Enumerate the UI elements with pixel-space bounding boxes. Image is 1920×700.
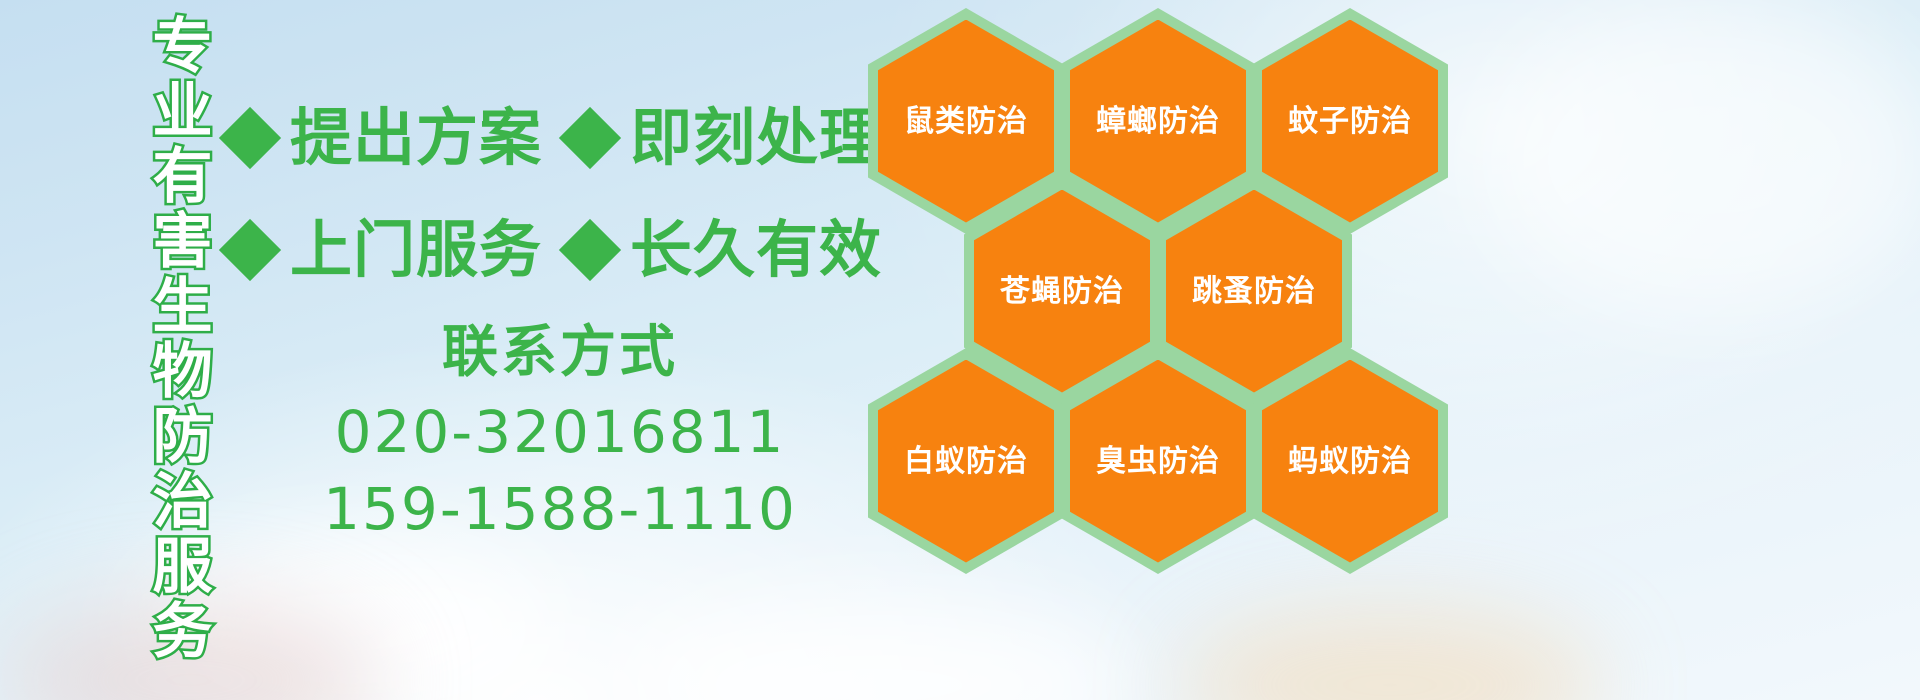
hex-label: 臭虫防治 [1096, 445, 1220, 478]
hex-label: 蚊子防治 [1288, 105, 1412, 138]
hex-inner: 苍蝇防治 [974, 190, 1150, 393]
feature-label: 提出方案 [290, 107, 542, 169]
feature-row: 上门服务 长久有效 [228, 194, 868, 306]
pest-control-banner: 专业有害生物防治服务 提出方案 即刻处理 上门服务 长久有效 [0, 0, 1920, 700]
feature-item-propose-plan: 提出方案 [228, 107, 542, 169]
hex-label: 苍蝇防治 [1000, 275, 1124, 308]
hex-label: 蟑螂防治 [1096, 105, 1220, 138]
background-haze-blob [1480, 0, 1920, 320]
hex-inner: 蚂蚁防治 [1262, 360, 1438, 563]
hex-inner: 鼠类防治 [878, 20, 1054, 223]
vertical-headline: 专业有害生物防治服务 [104, 14, 208, 664]
background-haze-blob [1180, 610, 1600, 700]
diamond-bullet-icon [559, 107, 621, 169]
diamond-bullet-icon [219, 107, 281, 169]
hex-inner: 白蚁防治 [878, 360, 1054, 563]
hex-inner: 跳蚤防治 [1166, 190, 1342, 393]
hex-label: 蚂蚁防治 [1288, 445, 1412, 478]
feature-item-long-lasting: 长久有效 [568, 219, 882, 281]
diamond-bullet-icon [219, 219, 281, 281]
contact-block: 联系方式 020-32016811 159-1588-1110 [300, 318, 820, 547]
hex-inner: 蚊子防治 [1262, 20, 1438, 223]
hex-inner: 臭虫防治 [1070, 360, 1246, 563]
feature-label: 长久有效 [630, 219, 882, 281]
hex-label: 鼠类防治 [904, 105, 1028, 138]
hex-label: 跳蚤防治 [1192, 275, 1316, 308]
contact-title: 联系方式 [300, 318, 820, 388]
background-haze-blob [620, 600, 1140, 700]
service-honeycomb: 鼠类防治 蟑螂防治 蚊子防治 苍蝇防治 跳蚤防治 白蚁防治 [862, 0, 1462, 580]
feature-label: 上门服务 [290, 219, 542, 281]
contact-phone-landline[interactable]: 020-32016811 [300, 394, 820, 471]
diamond-bullet-icon [559, 219, 621, 281]
contact-phone-mobile[interactable]: 159-1588-1110 [300, 471, 820, 548]
feature-item-onsite-service: 上门服务 [228, 219, 542, 281]
feature-label: 即刻处理 [630, 107, 882, 169]
hex-label: 白蚁防治 [904, 445, 1028, 478]
hex-inner: 蟑螂防治 [1070, 20, 1246, 223]
feature-list: 提出方案 即刻处理 上门服务 长久有效 [228, 82, 868, 306]
feature-row: 提出方案 即刻处理 [228, 82, 868, 194]
feature-item-immediate-handling: 即刻处理 [568, 107, 882, 169]
